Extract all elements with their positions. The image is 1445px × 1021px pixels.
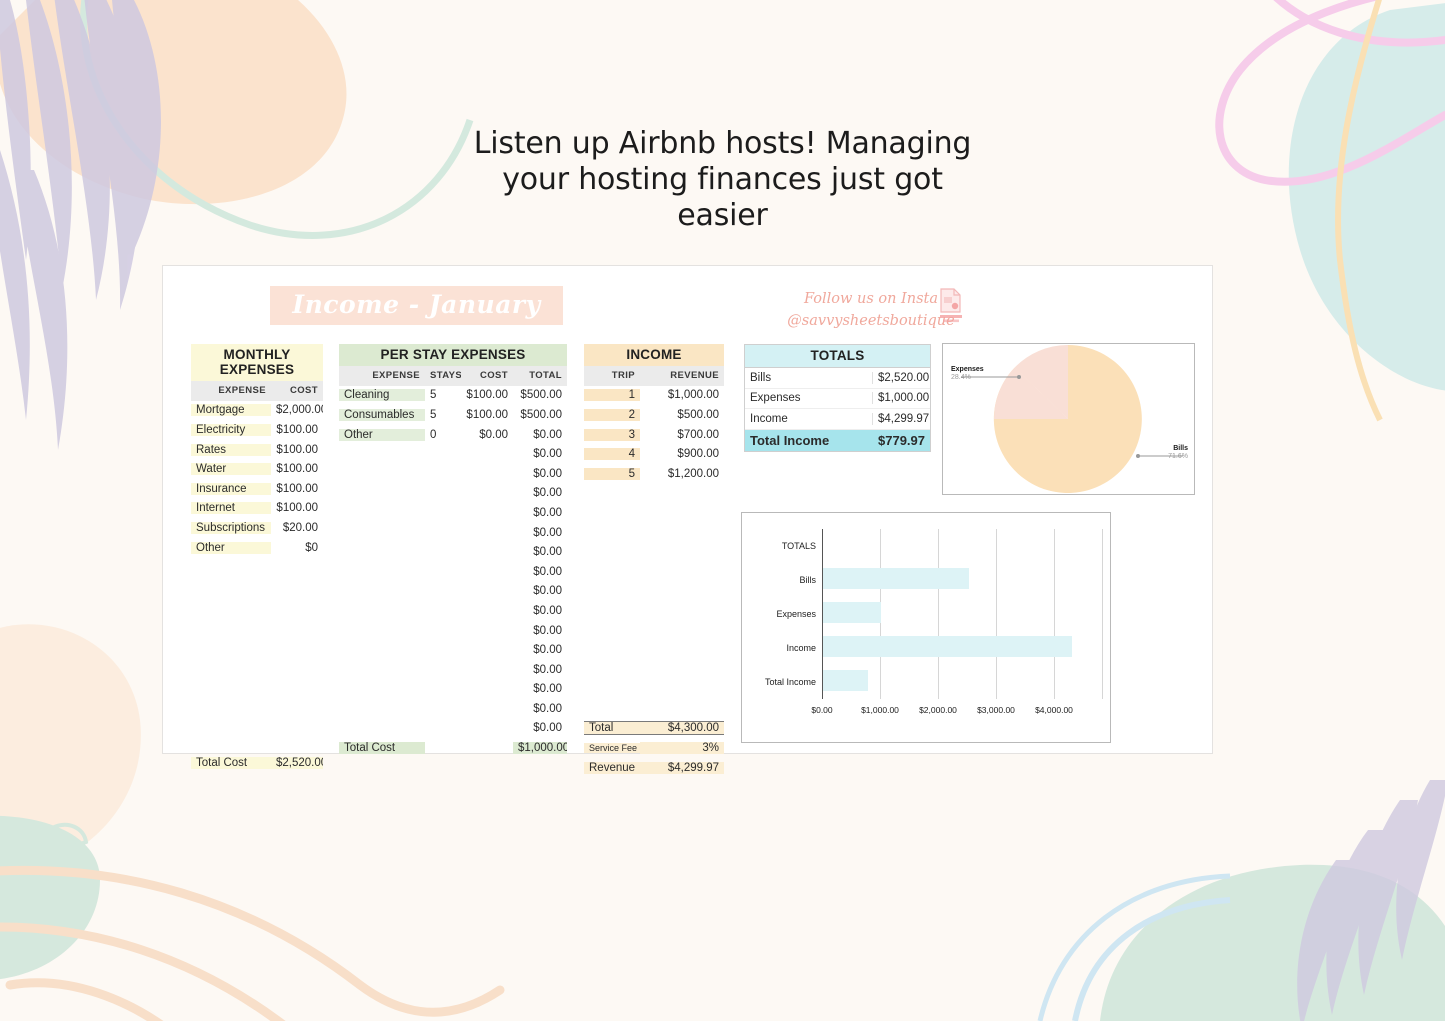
monthly-expenses-table: MONTHLY EXPENSES EXPENSE COST Mortgage$2… <box>191 344 323 773</box>
bar-category-income: Income <box>742 643 816 653</box>
monthly-header-expense: EXPENSE <box>191 385 271 396</box>
bar-bills[interactable] <box>823 568 969 589</box>
table-row-empty[interactable]: $0.00 <box>339 464 567 484</box>
headline-line-1: Listen up Airbnb hosts! Managing <box>0 126 1445 162</box>
cell-total[interactable]: $500.00 <box>513 409 567 421</box>
monthly-header-cost: COST <box>271 385 323 396</box>
table-row-empty[interactable]: $0.00 <box>339 601 567 621</box>
per-stay-header-cost: COST <box>461 370 513 381</box>
bar-income[interactable] <box>823 636 1072 657</box>
table-row-empty[interactable] <box>584 640 724 660</box>
cell-expense[interactable]: Other <box>191 542 271 554</box>
cell-total[interactable]: $0.00 <box>513 703 567 715</box>
cell-total[interactable]: $0.00 <box>513 448 567 460</box>
total-income-row: Total Income $779.97 <box>745 430 930 451</box>
table-row-empty[interactable] <box>191 714 323 734</box>
table-row-empty[interactable] <box>584 503 724 523</box>
monthly-expenses-header-row: EXPENSE COST <box>191 381 323 401</box>
cell-stays[interactable]: 0 <box>425 429 461 441</box>
income-header-revenue: REVENUE <box>640 370 724 381</box>
pie-label-bills-name: Bills <box>1168 445 1188 453</box>
gridline-5000 <box>1102 529 1103 699</box>
totals-title: TOTALS <box>745 345 930 368</box>
cell-label[interactable]: Expenses <box>745 392 873 404</box>
table-row[interactable]: 4$900.00 <box>584 444 724 464</box>
revenue-label: Revenue <box>584 762 640 774</box>
income-revenue-row: Revenue $4,299.97 <box>584 758 724 778</box>
cell-total[interactable]: $0.00 <box>513 605 567 617</box>
table-row-empty[interactable] <box>584 699 724 719</box>
table-row[interactable]: Expenses$1,000.00 <box>745 389 930 410</box>
cell-stays[interactable]: 5 <box>425 409 461 421</box>
cell-cost[interactable]: $100.00 <box>461 389 513 401</box>
cell-stays[interactable]: 5 <box>425 389 461 401</box>
table-row[interactable]: Cleaning5$100.00$500.00 <box>339 386 567 406</box>
cell-revenue[interactable]: $1,000.00 <box>640 389 724 401</box>
table-row-empty[interactable] <box>191 655 323 675</box>
cell-value[interactable]: $4,299.97 <box>873 413 930 425</box>
table-row[interactable]: Other0$0.00$0.00 <box>339 425 567 445</box>
table-row-empty[interactable] <box>584 601 724 621</box>
cell-revenue[interactable]: $500.00 <box>640 409 724 421</box>
table-row-empty[interactable] <box>191 597 323 617</box>
bar-total-income[interactable] <box>823 670 868 691</box>
cell-label[interactable]: Bills <box>745 372 873 384</box>
table-row[interactable]: 3$700.00 <box>584 425 724 445</box>
gridline-3000 <box>996 529 997 699</box>
income-body: 1$1,000.00 2$500.00 3$700.00 4$900.00 5$… <box>584 386 724 719</box>
cell-expense[interactable]: Other <box>339 429 425 441</box>
cell-total[interactable]: $0.00 <box>513 644 567 656</box>
cell-revenue[interactable]: $1,200.00 <box>640 468 724 480</box>
table-row[interactable]: Consumables5$100.00$500.00 <box>339 405 567 425</box>
table-row[interactable]: Subscriptions$20.00 <box>191 518 323 538</box>
cell-total[interactable]: $0.00 <box>513 546 567 558</box>
service-fee-value: 3% <box>640 742 724 754</box>
table-row[interactable]: Internet$100.00 <box>191 499 323 519</box>
headline-line-2: your hosting finances just got <box>0 162 1445 198</box>
cell-total[interactable]: $0.00 <box>513 566 567 578</box>
income-total-value: $4,300.00 <box>640 721 724 735</box>
table-row-empty[interactable]: $0.00 <box>339 523 567 543</box>
headline-line-3: easier <box>0 198 1445 234</box>
income-table: INCOME TRIP REVENUE 1$1,000.00 2$500.00 … <box>584 344 724 777</box>
cell-cost[interactable]: $100.00 <box>271 444 323 456</box>
cell-total[interactable]: $0.00 <box>513 722 567 734</box>
table-row[interactable]: 5$1,200.00 <box>584 464 724 484</box>
income-total-label: Total <box>584 721 640 735</box>
cell-expense[interactable]: Electricity <box>191 424 271 436</box>
table-row-empty[interactable] <box>584 542 724 562</box>
cell-expense[interactable]: Water <box>191 463 271 475</box>
table-row-empty[interactable]: $0.00 <box>339 444 567 464</box>
per-stay-total-value: $1,000.00 <box>513 742 567 754</box>
pie-label-expenses-percent: 28.4% <box>951 374 984 382</box>
cell-total[interactable]: $500.00 <box>513 389 567 401</box>
cell-value[interactable]: $2,520.00 <box>873 372 930 384</box>
per-stay-footer: Total Cost $1,000.00 <box>339 738 567 758</box>
table-row-empty[interactable] <box>584 680 724 700</box>
table-row-empty[interactable]: $0.00 <box>339 660 567 680</box>
table-row[interactable]: Mortgage$2,000.00 <box>191 401 323 421</box>
income-total-row: Total $4,300.00 <box>584 719 724 739</box>
cell-expense[interactable]: Subscriptions <box>191 522 271 534</box>
cell-total[interactable]: $0.00 <box>513 664 567 676</box>
totals-body: Bills$2,520.00 Expenses$1,000.00 Income$… <box>745 368 930 430</box>
table-row[interactable]: Other$0 <box>191 538 323 558</box>
table-row[interactable]: Water$100.00 <box>191 459 323 479</box>
cell-cost[interactable]: $100.00 <box>461 409 513 421</box>
cell-total[interactable]: $0.00 <box>513 468 567 480</box>
cell-expense[interactable]: Rates <box>191 444 271 456</box>
totals-table: TOTALS Bills$2,520.00 Expenses$1,000.00 … <box>744 344 931 452</box>
cell-cost[interactable]: $0.00 <box>461 429 513 441</box>
pie-label-expenses: Expenses 28.4% <box>951 366 984 382</box>
cell-total[interactable]: $0.00 <box>513 507 567 519</box>
cell-total[interactable]: $0.00 <box>513 585 567 597</box>
pie-label-bills: Bills 71.6% <box>1168 445 1188 461</box>
per-stay-title: PER STAY EXPENSES <box>339 344 567 366</box>
cell-label[interactable]: Income <box>745 413 873 425</box>
table-row-empty[interactable]: $0.00 <box>339 640 567 660</box>
table-row[interactable]: 2$500.00 <box>584 405 724 425</box>
total-income-value: $779.97 <box>873 433 930 448</box>
monthly-expenses-footer: Total Cost $2,520.00 <box>191 753 323 773</box>
pie-label-bills-percent: 71.6% <box>1168 453 1188 461</box>
table-row-empty[interactable] <box>191 675 323 695</box>
cell-value[interactable]: $1,000.00 <box>873 392 930 404</box>
cell-total[interactable]: $0.00 <box>513 487 567 499</box>
per-stay-expenses-table: PER STAY EXPENSES EXPENSE STAYS COST TOT… <box>339 344 567 758</box>
table-row-empty[interactable]: $0.00 <box>339 484 567 504</box>
cell-expense[interactable]: Mortgage <box>191 404 271 416</box>
monthly-expenses-body: Mortgage$2,000.00 Electricity$100.00 Rat… <box>191 401 323 754</box>
cell-revenue[interactable]: $700.00 <box>640 429 724 441</box>
total-income-label: Total Income <box>745 433 873 448</box>
cell-expense[interactable]: Consumables <box>339 409 425 421</box>
per-stay-header-expense: EXPENSE <box>339 370 425 381</box>
table-row[interactable]: 1$1,000.00 <box>584 386 724 406</box>
table-row-empty[interactable]: $0.00 <box>339 562 567 582</box>
table-row-empty[interactable] <box>191 557 323 577</box>
table-row-empty[interactable] <box>191 577 323 597</box>
table-row-empty[interactable] <box>584 523 724 543</box>
table-row-empty[interactable]: $0.00 <box>339 680 567 700</box>
page-headline: Listen up Airbnb hosts! Managing your ho… <box>0 126 1445 234</box>
table-row-empty[interactable] <box>584 582 724 602</box>
per-stay-header-total: TOTAL <box>513 370 567 381</box>
income-header-row: TRIP REVENUE <box>584 366 724 386</box>
table-row-empty[interactable] <box>584 660 724 680</box>
table-row-empty[interactable]: $0.00 <box>339 542 567 562</box>
table-row-empty[interactable]: $0.00 <box>339 503 567 523</box>
cell-cost[interactable]: $100.00 <box>271 502 323 514</box>
cell-total[interactable]: $0.00 <box>513 527 567 539</box>
sheet-title: Income - January <box>270 290 563 319</box>
table-row[interactable]: Rates$100.00 <box>191 440 323 460</box>
pie-label-expenses-name: Expenses <box>951 366 984 374</box>
table-row-empty[interactable] <box>191 734 323 754</box>
cell-cost[interactable]: $100.00 <box>271 483 323 495</box>
income-title: INCOME <box>584 344 724 366</box>
cell-expense[interactable]: Insurance <box>191 483 271 495</box>
table-row-empty[interactable]: $0.00 <box>339 699 567 719</box>
gridline-2000 <box>938 529 939 699</box>
cell-total[interactable]: $0.00 <box>513 625 567 637</box>
per-stay-header-row: EXPENSE STAYS COST TOTAL <box>339 366 567 386</box>
cell-cost[interactable]: $100.00 <box>271 424 323 436</box>
cell-cost[interactable]: $20.00 <box>271 522 323 534</box>
cell-revenue[interactable]: $900.00 <box>640 448 724 460</box>
table-row-empty[interactable] <box>584 484 724 504</box>
bar-category-total-income: Total Income <box>742 677 816 687</box>
table-row-empty[interactable] <box>584 621 724 641</box>
document-icon <box>938 288 964 324</box>
expenses-pie-chart: Expenses 28.4% Bills 71.6% <box>942 343 1195 495</box>
cell-expense[interactable]: Cleaning <box>339 389 425 401</box>
cell-trip[interactable]: 5 <box>584 468 640 480</box>
totals-bar-chart: TOTALS Bills Expenses Income Total Incom… <box>741 512 1111 743</box>
table-row-empty[interactable] <box>584 562 724 582</box>
cell-trip[interactable]: 1 <box>584 389 640 401</box>
cell-cost[interactable]: $0 <box>271 542 323 554</box>
cell-total[interactable]: $0.00 <box>513 683 567 695</box>
table-row-empty[interactable]: $0.00 <box>339 582 567 602</box>
cell-trip[interactable]: 2 <box>584 409 640 421</box>
bar-expenses[interactable] <box>823 602 881 623</box>
cell-total[interactable]: $0.00 <box>513 429 567 441</box>
table-row[interactable]: Bills$2,520.00 <box>745 368 930 389</box>
cell-expense[interactable]: Internet <box>191 502 271 514</box>
per-stay-header-stays: STAYS <box>425 370 461 381</box>
per-stay-total-label: Total Cost <box>339 742 425 754</box>
table-row-empty[interactable] <box>191 695 323 715</box>
gridline-4000 <box>1054 529 1055 699</box>
table-row-empty[interactable] <box>191 636 323 656</box>
monthly-total-value: $2,520.00 <box>271 757 323 769</box>
bar-category-totals: TOTALS <box>742 541 816 551</box>
table-row[interactable]: Electricity$100.00 <box>191 420 323 440</box>
service-fee-label: Service Fee <box>584 743 640 753</box>
bar-xtick-0: $0.00 <box>794 705 850 715</box>
per-stay-body: Cleaning5$100.00$500.00 Consumables5$100… <box>339 386 567 739</box>
income-header-trip: TRIP <box>584 370 640 381</box>
bar-category-expenses: Expenses <box>742 609 816 619</box>
table-row[interactable]: Income$4,299.97 <box>745 409 930 430</box>
spreadsheet-canvas: Income - January Follow us on Insta @sav… <box>162 265 1213 754</box>
table-row-empty[interactable]: $0.00 <box>339 719 567 739</box>
cell-trip[interactable]: 4 <box>584 448 640 460</box>
table-row[interactable]: Insurance$100.00 <box>191 479 323 499</box>
cell-cost[interactable]: $2,000.00 <box>271 404 323 416</box>
monthly-total-label: Total Cost <box>191 757 271 769</box>
bar-xtick-4: $4,000.00 <box>1020 705 1088 715</box>
income-service-fee-row: Service Fee 3% <box>584 738 724 758</box>
table-row-empty[interactable]: $0.00 <box>339 621 567 641</box>
cell-trip[interactable]: 3 <box>584 429 640 441</box>
revenue-value: $4,299.97 <box>640 762 724 774</box>
bar-category-bills: Bills <box>742 575 816 585</box>
table-row-empty[interactable] <box>191 616 323 636</box>
sheet-title-banner: Income - January <box>270 286 563 325</box>
monthly-expenses-title: MONTHLY EXPENSES <box>191 344 323 381</box>
cell-cost[interactable]: $100.00 <box>271 463 323 475</box>
savvy-sheets-logo <box>938 288 964 324</box>
